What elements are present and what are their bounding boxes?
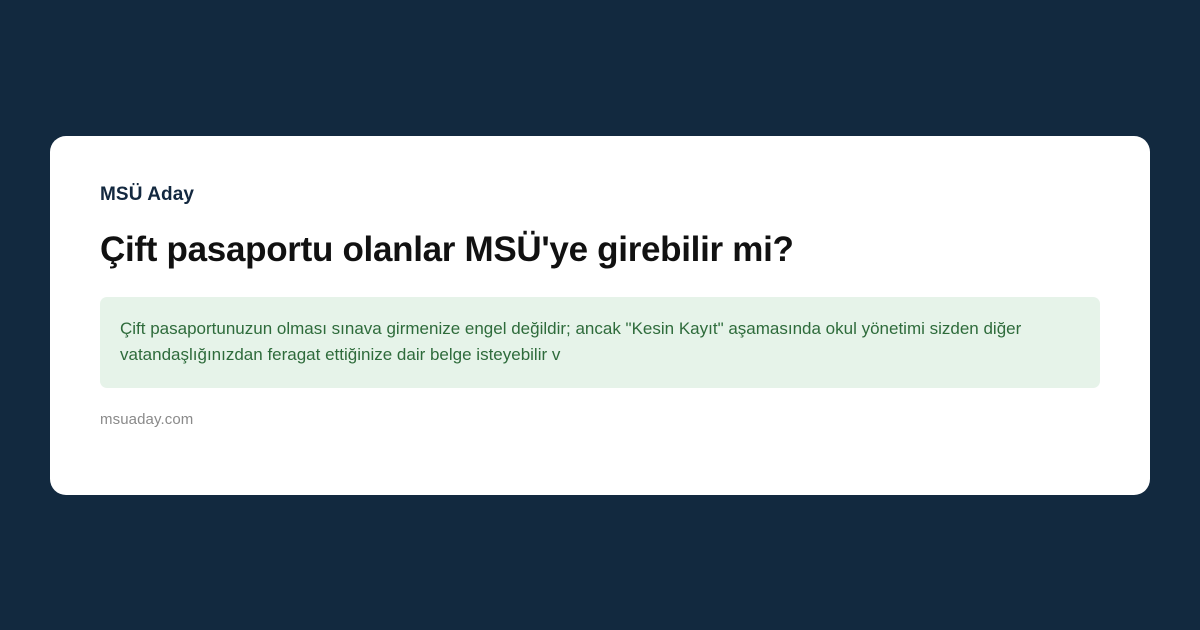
page-title: Çift pasaportu olanlar MSÜ'ye girebilir … <box>100 229 1100 271</box>
answer-highlight-box: Çift pasaportunuzun olması sınava girmen… <box>100 297 1100 388</box>
site-name: MSÜ Aday <box>100 184 1100 207</box>
og-image-canvas: MSÜ Aday Çift pasaportu olanlar MSÜ'ye g… <box>0 0 1200 630</box>
footer-domain: msuaday.com <box>100 411 1100 429</box>
answer-text: Çift pasaportunuzun olması sınava girmen… <box>120 316 1080 368</box>
content-card: MSÜ Aday Çift pasaportu olanlar MSÜ'ye g… <box>50 136 1150 495</box>
